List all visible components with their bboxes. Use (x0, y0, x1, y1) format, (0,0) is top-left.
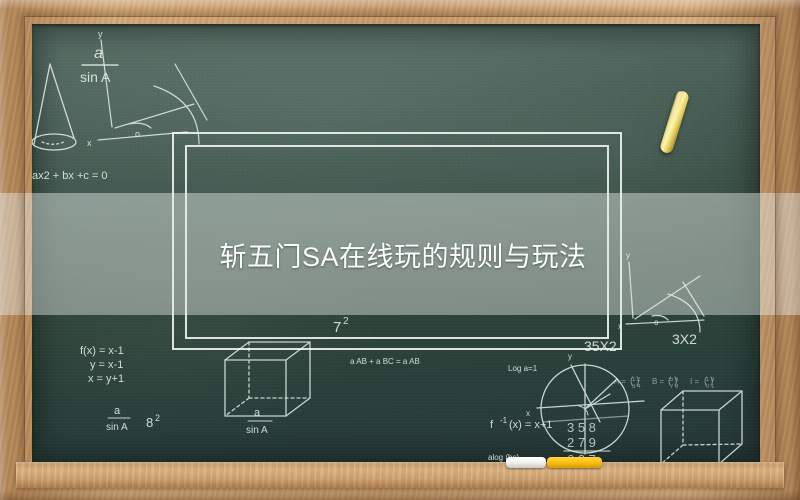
svg-text:a: a (114, 405, 121, 417)
svg-text:0 1: 0 1 (706, 384, 715, 390)
svg-text:Log a=1: Log a=1 (508, 364, 538, 373)
svg-text:7: 7 (333, 319, 341, 336)
chalk-stick-yellow-icon (547, 457, 602, 468)
svg-text:y: y (98, 29, 103, 39)
svg-text:ax2 + bx +c = 0: ax2 + bx +c = 0 (32, 170, 108, 182)
svg-text:3X2: 3X2 (672, 331, 697, 347)
svg-text:I =: I = (690, 377, 699, 386)
svg-text:2: 2 (155, 413, 160, 423)
svg-text:1 0: 1 0 (706, 377, 715, 383)
svg-text:a: a (94, 45, 103, 62)
svg-text:y = x-1: y = x-1 (90, 359, 123, 371)
svg-text:A =: A = (614, 377, 626, 386)
svg-text:x: x (87, 138, 92, 148)
page-title: 斩五门SA在线玩的规则与玩法 (219, 235, 586, 274)
svg-text:a: a (254, 407, 261, 419)
svg-text:B =: B = (652, 377, 665, 386)
chalk-stick-white-icon (506, 457, 546, 468)
svg-text:2 7 9: 2 7 9 (567, 435, 596, 450)
chalk-ledge (16, 462, 784, 488)
svg-text:y: y (568, 352, 572, 361)
svg-text:-1: -1 (500, 416, 508, 425)
svg-text:8: 8 (146, 415, 153, 430)
svg-text:sin A: sin A (106, 422, 128, 433)
svg-text:( ): ( ) (630, 376, 639, 387)
svg-text:sin A: sin A (80, 69, 111, 85)
title-container: 斩五门SA在线玩的规则与玩法 (0, 193, 800, 315)
svg-text:3 5 8: 3 5 8 (567, 420, 596, 435)
svg-text:7 8: 7 8 (670, 384, 679, 390)
svg-text:(x) = x+1: (x) = x+1 (509, 419, 552, 431)
svg-text:x: x (618, 322, 622, 331)
svg-text:35X2: 35X2 (584, 338, 617, 354)
svg-text:3 4: 3 4 (632, 384, 641, 390)
svg-text:x = y+1: x = y+1 (88, 373, 124, 385)
svg-text:2: 2 (343, 316, 349, 327)
svg-text:( ): ( ) (704, 376, 713, 387)
svg-text:sin A: sin A (246, 425, 268, 436)
svg-text:o: o (654, 318, 659, 327)
svg-text:( ): ( ) (668, 376, 677, 387)
svg-text:a AB + a BC = a AB: a AB + a BC = a AB (350, 357, 420, 366)
chalkboard-banner: a sin A ax2 + bx +c = 0 y (0, 0, 800, 500)
svg-text:f: f (490, 419, 494, 431)
svg-text:5 6: 5 6 (670, 377, 679, 383)
svg-text:x: x (526, 409, 530, 418)
svg-text:f(x) = x-1: f(x) = x-1 (80, 345, 124, 357)
svg-text:1 2: 1 2 (632, 377, 641, 383)
svg-text:o: o (135, 129, 140, 139)
